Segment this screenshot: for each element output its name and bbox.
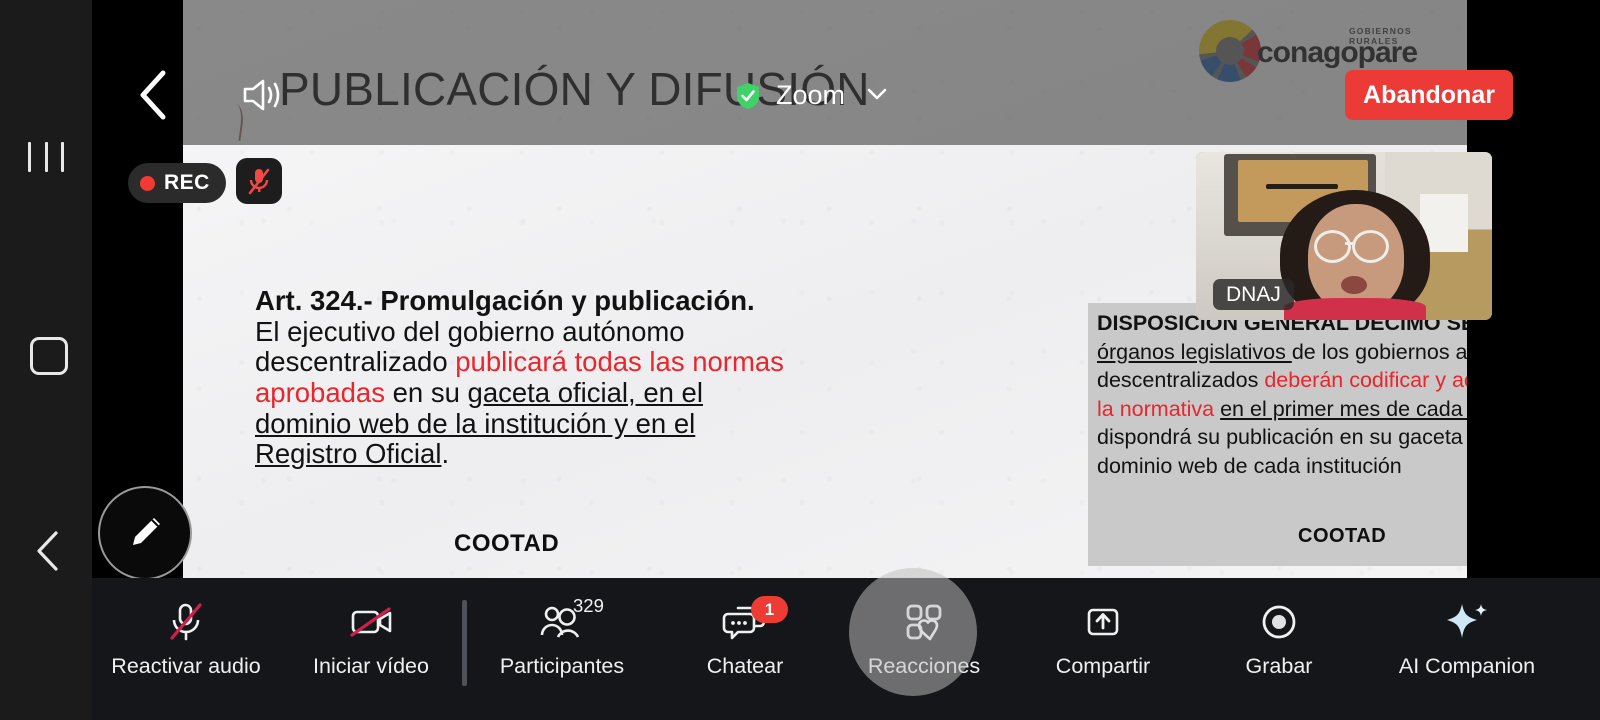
recording-dot-icon (140, 176, 155, 191)
chat-icon: 1 (715, 599, 775, 645)
back-icon[interactable] (30, 528, 64, 574)
toolbar-button-reactions[interactable]: Reacciones (833, 578, 1015, 720)
logo-superscript: GOBIERNOS RURALES (1349, 26, 1412, 46)
reactions-icon (894, 599, 954, 645)
toolbar-button-chat[interactable]: 1 Chatear (657, 578, 833, 720)
slide-right-text-block: DISPOSICION GENERAL DÉCIMO SEXTA- Los ór… (1088, 303, 1467, 566)
meeting-app-label[interactable]: Zoom (776, 80, 845, 111)
back-chevron-icon[interactable] (132, 68, 174, 122)
zoom-meeting-screen: conagopare GOBIERNOS RURALES PUBLICACIÓN… (0, 0, 1600, 720)
share-icon (1073, 599, 1133, 645)
participants-count: 329 (573, 595, 604, 617)
speaker-icon (241, 78, 289, 112)
left-body-2: en su (385, 377, 468, 408)
meeting-toolbar: Reactivar audio Iniciar vídeo (92, 578, 1600, 720)
encryption-shield-icon (735, 82, 761, 110)
toolbar-label-unmute: Reactivar audio (111, 654, 260, 679)
muted-indicator-badge[interactable] (236, 158, 282, 204)
record-icon (1249, 599, 1309, 645)
left-body-3: . (441, 438, 449, 469)
toolbar-label-share: Compartir (1056, 654, 1150, 679)
toolbar-label-start-video: Iniciar vídeo (313, 654, 429, 679)
toolbar-button-share[interactable]: Compartir (1015, 578, 1191, 720)
conagopare-ring-icon (1199, 20, 1261, 82)
recording-label: REC (164, 171, 210, 195)
chevron-down-icon[interactable] (866, 86, 888, 102)
mic-off-icon (156, 599, 216, 645)
toolbar-button-ai-companion[interactable]: AI Companion (1367, 578, 1567, 720)
toolbar-label-record: Grabar (1246, 654, 1313, 679)
toolbar-label-reactions: Reacciones (868, 654, 980, 679)
toolbar-label-ai-companion: AI Companion (1399, 654, 1535, 679)
toolbar-label-chat: Chatear (707, 654, 784, 679)
recording-indicator[interactable]: REC (128, 163, 226, 203)
recents-icon[interactable] (28, 140, 64, 174)
video-off-icon (341, 599, 401, 645)
toolbar-button-record[interactable]: Grabar (1191, 578, 1367, 720)
self-view-name-label: DNAJ (1213, 279, 1294, 310)
toolbar-button-participants[interactable]: 329 Participantes (467, 578, 657, 720)
right-body-underline-2: en el primer mes de cada año (1220, 397, 1467, 421)
toolbar-button-start-video[interactable]: Iniciar vídeo (280, 578, 462, 720)
ai-sparkle-icon (1437, 599, 1497, 645)
annotate-pencil-button[interactable] (98, 486, 192, 580)
pencil-icon (123, 511, 167, 555)
android-system-nav (0, 0, 92, 720)
chat-unread-badge: 1 (751, 596, 788, 623)
mic-off-icon (245, 166, 273, 196)
toolbar-button-unmute[interactable]: Reactivar audio (92, 578, 280, 720)
leave-meeting-button[interactable]: Abandonar (1345, 70, 1513, 120)
left-source-label: COOTAD (454, 530, 559, 558)
self-view-video-tile[interactable]: DNAJ (1196, 152, 1492, 320)
home-icon[interactable] (30, 337, 68, 375)
participants-icon: 329 (532, 599, 592, 645)
toolbar-label-participants: Participantes (500, 654, 624, 679)
right-source-label: COOTAD (1298, 525, 1386, 548)
slide-left-text-block: Art. 324.- Promulgación y publicación. E… (255, 286, 785, 470)
left-heading: Art. 324.- Promulgación y publicación. (255, 285, 755, 316)
